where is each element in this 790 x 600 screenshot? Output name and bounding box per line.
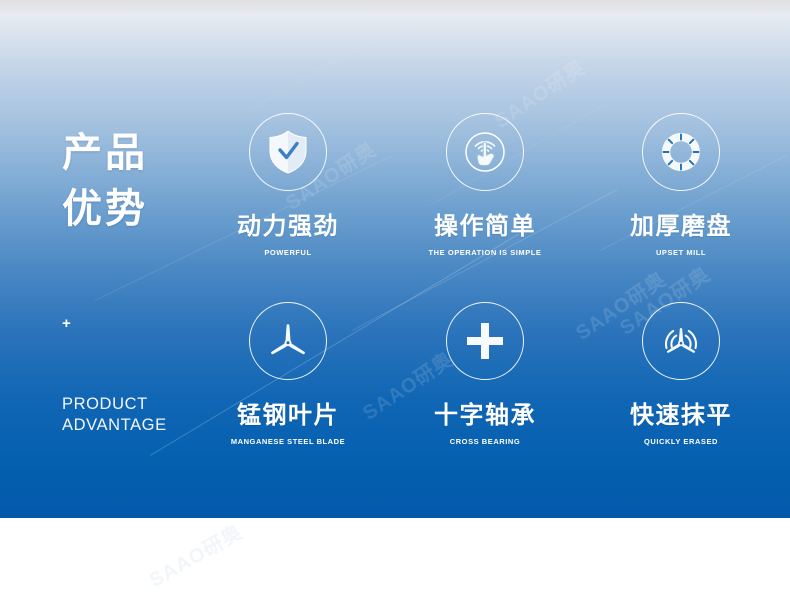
feature-title-en: MANGANESE STEEL BLADE [198,437,378,447]
feature-title-en: UPSET MILL [591,248,771,258]
grinding-disc-icon [657,128,705,176]
feature-title-cn: 锰钢叶片 [198,402,378,430]
cross-plus-icon [463,319,507,363]
feature-title-en: THE OPERATION IS SIMPLE [395,248,575,258]
feature-grid: 动力强劲 POWERFUL 操作简单 THE OPERATION IS SIMP… [0,0,790,518]
icon-circle [249,302,327,380]
feature-title-cn: 十字轴承 [395,402,575,430]
feature-item-simple-operation: 操作简单 THE OPERATION IS SIMPLE [395,113,575,258]
feature-item-powerful: 动力强劲 POWERFUL [198,113,378,258]
feature-title-cn: 快速抹平 [591,402,771,430]
three-blade-propeller-icon [264,317,312,365]
feature-title-cn: 加厚磨盘 [591,213,771,241]
icon-circle [249,113,327,191]
shield-check-icon [266,129,310,175]
watermark: SAAO研奥 [143,516,247,593]
touch-finger-icon [461,128,509,176]
icon-circle [446,113,524,191]
feature-title-en: CROSS BEARING [395,437,575,447]
feature-title-cn: 操作简单 [395,213,575,241]
feature-title-en: POWERFUL [198,248,378,258]
icon-circle [642,113,720,191]
feature-title-en: QUICKLY ERASED [591,437,771,447]
feature-title-cn: 动力强劲 [198,213,378,241]
icon-circle [446,302,524,380]
fast-propeller-icon [656,316,706,366]
feature-item-upset-mill: 加厚磨盘 UPSET MILL [591,113,771,258]
feature-item-steel-blade: 锰钢叶片 MANGANESE STEEL BLADE [198,302,378,447]
feature-item-quickly-erased: 快速抹平 QUICKLY ERASED [591,302,771,447]
icon-circle [642,302,720,380]
feature-item-cross-bearing: 十字轴承 CROSS BEARING [395,302,575,447]
product-advantage-banner: SAAO研奥 SAAO研奥 SAAO研奥 SAAO研奥 SAAO研奥 SAAO研… [0,0,790,600]
